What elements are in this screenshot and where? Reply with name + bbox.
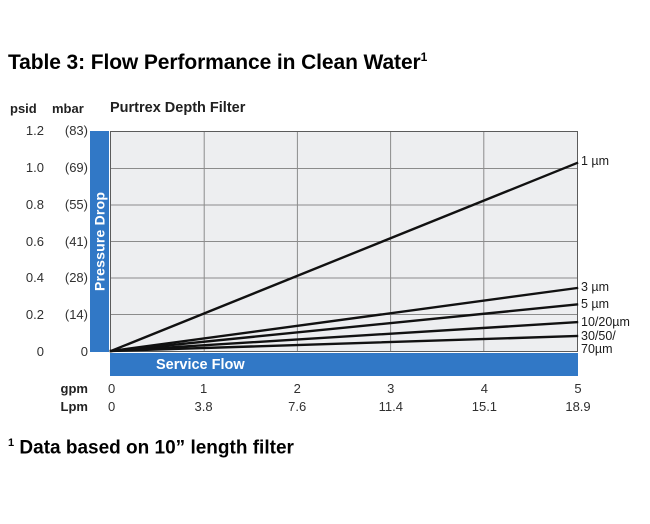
page-title-superscript: 1 <box>421 50 428 64</box>
series-label-3um: 3 µm <box>581 281 609 294</box>
service-flow-band-label: Service Flow <box>110 353 578 376</box>
page-title-text: Table 3: Flow Performance in Clean Water <box>8 51 421 74</box>
x-axis-unit-gpm: gpm <box>42 381 88 396</box>
plot-area <box>110 131 578 352</box>
y-tick-mbar: (83) <box>48 123 88 138</box>
y-tick-psid: 1.0 <box>8 160 44 175</box>
series-label-30-50um: 30/50/ <box>581 330 616 343</box>
x-axis-unit-lpm: Lpm <box>42 399 88 414</box>
x-tick-gpm: 3 <box>361 381 421 396</box>
x-tick-lpm: 0 <box>108 399 168 414</box>
series-label-5um: 5 µm <box>581 298 609 311</box>
y-tick-psid: 0.4 <box>8 270 44 285</box>
y-tick-psid: 0 <box>8 344 44 359</box>
footnote-text: Data based on 10” length filter <box>14 437 294 458</box>
x-tick-lpm: 15.1 <box>454 399 514 414</box>
footnote: 1 Data based on 10” length filter <box>8 437 294 459</box>
series-lines <box>111 132 577 351</box>
x-tick-gpm: 0 <box>108 381 168 396</box>
y-tick-mbar: (69) <box>48 160 88 175</box>
y-axis-unit-psid: psid <box>10 101 37 116</box>
plot-heading: Purtrex Depth Filter <box>110 100 245 116</box>
y-tick-mbar: (14) <box>48 307 88 322</box>
y-tick-mbar: 0 <box>48 344 88 359</box>
page-title: Table 3: Flow Performance in Clean Water… <box>8 50 427 75</box>
x-tick-gpm: 1 <box>174 381 234 396</box>
x-tick-lpm: 18.9 <box>548 399 608 414</box>
series-label-1um: 1 µm <box>581 155 609 168</box>
x-tick-gpm: 4 <box>454 381 514 396</box>
y-tick-mbar: (41) <box>48 234 88 249</box>
y-tick-psid: 0.2 <box>8 307 44 322</box>
series-label-70um: 70µm <box>581 343 613 356</box>
y-tick-psid: 0.6 <box>8 234 44 249</box>
pressure-drop-band-label: Pressure Drop <box>90 131 109 352</box>
x-tick-lpm: 7.6 <box>267 399 327 414</box>
x-tick-gpm: 2 <box>267 381 327 396</box>
y-axis-unit-mbar: mbar <box>52 101 84 116</box>
y-tick-mbar: (55) <box>48 197 88 212</box>
y-tick-psid: 0.8 <box>8 197 44 212</box>
x-tick-gpm: 5 <box>548 381 608 396</box>
series-label-10-20um: 10/20µm <box>581 316 630 329</box>
x-tick-lpm: 11.4 <box>361 399 421 414</box>
y-tick-psid: 1.2 <box>8 123 44 138</box>
y-tick-mbar: (28) <box>48 270 88 285</box>
x-tick-lpm: 3.8 <box>174 399 234 414</box>
